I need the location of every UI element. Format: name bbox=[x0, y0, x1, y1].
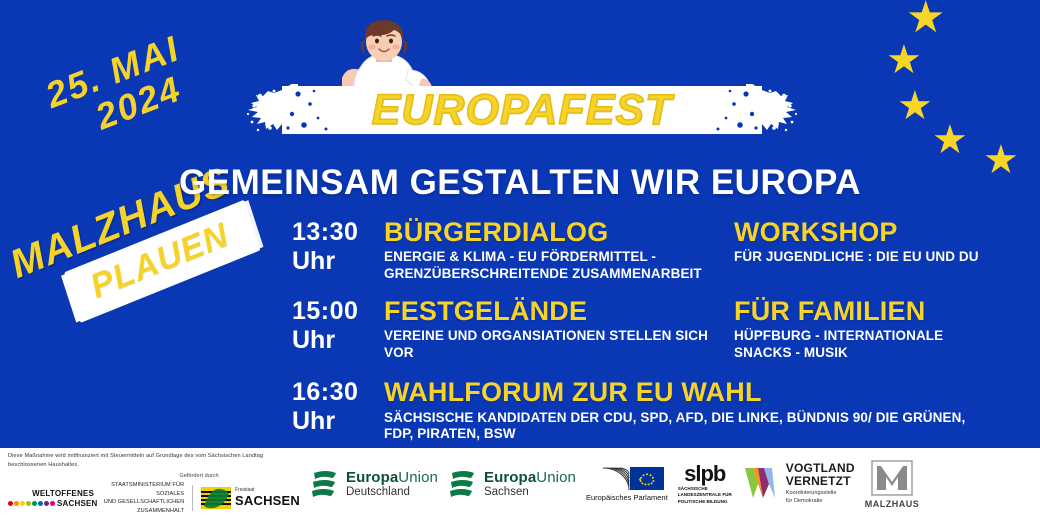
weltoffenes-line1: WELTOFFENES bbox=[8, 489, 94, 498]
schedule-row: 16:30 Uhr WAHLFORUM ZUR EU WAHL SÄCHSISC… bbox=[292, 378, 992, 443]
schedule-time-value: 15:00 bbox=[292, 299, 384, 324]
europaunion-sachsen-logo: EuropaUnion Sachsen bbox=[448, 469, 576, 499]
funding-disclaimer-block: Diese Maßnahme wird mitfinanziert mit St… bbox=[8, 452, 300, 515]
page-headline: GEMEINSAM GESTALTEN WIR EUROPA bbox=[0, 163, 1040, 203]
schedule-time-value: 13:30 bbox=[292, 220, 384, 245]
event-name: BÜRGERDIALOG bbox=[384, 218, 734, 246]
event-title: EUROPAFEST bbox=[246, 84, 798, 136]
freistaat-sachsen-logo: Freistaat SACHSEN bbox=[201, 487, 300, 509]
slpb-logo: slpb SÄCHSISCHE LANDESZENTRALE FÜR POLIT… bbox=[678, 463, 732, 506]
sachsen-coat-of-arms-icon bbox=[201, 487, 231, 509]
weltoffenes-line2: SACHSEN bbox=[57, 499, 98, 508]
event-description: VEREINE UND ORGANSIATIONEN STELLEN SICH … bbox=[384, 328, 734, 362]
parliament-hemicycle-icon bbox=[590, 467, 630, 491]
staatsministerium-logo: STAATSMINISTERIUM FÜR SOZIALES UND GESEL… bbox=[102, 481, 184, 516]
schedule-event-right: FÜR FAMILIEN HÜPFBURG - INTERNATIONALE S… bbox=[734, 297, 992, 362]
event-description: FÜR JUGENDLICHE : DIE EU UND DU bbox=[734, 249, 992, 266]
schedule-row: 15:00 Uhr FESTGELÄNDE VEREINE UND ORGANS… bbox=[292, 297, 992, 362]
event-name: FÜR FAMILIEN bbox=[734, 297, 992, 325]
event-name: WORKSHOP bbox=[734, 218, 992, 246]
eu-flag-icon bbox=[630, 467, 664, 490]
slpb-sub3: POLITISCHE BILDUNG bbox=[678, 499, 732, 506]
eu-star-icon: ★ bbox=[897, 86, 933, 126]
schedule-event-right: WORKSHOP FÜR JUGENDLICHE : DIE EU UND DU bbox=[734, 218, 992, 283]
schedule-list: 13:30 Uhr BÜRGERDIALOG ENERGIE & KLIMA -… bbox=[292, 218, 992, 443]
schedule-time-value: 16:30 bbox=[292, 380, 384, 405]
schedule-time: 13:30 Uhr bbox=[292, 218, 384, 274]
eu-de-light: Union bbox=[398, 469, 438, 486]
schedule-event-wide: WAHLFORUM ZUR EU WAHL SÄCHSISCHE KANDIDA… bbox=[384, 378, 992, 443]
europaunion-mark-icon bbox=[310, 470, 340, 498]
europaunion-mark-icon bbox=[448, 470, 478, 498]
vogtland-line2: VERNETZT bbox=[786, 475, 855, 488]
event-description: ENERGIE & KLIMA - EU FÖRDERMITTEL - GREN… bbox=[384, 249, 734, 283]
divider bbox=[192, 485, 193, 511]
funding-disclaimer-text: Diese Maßnahme wird mitfinanziert mit St… bbox=[8, 452, 300, 469]
slpb-mark-text: slpb bbox=[684, 463, 725, 485]
eu-star-icon: ★ bbox=[886, 40, 922, 80]
malzhaus-logo: MALZHAUS bbox=[865, 460, 920, 509]
eu-de-sub: Deutschland bbox=[346, 486, 438, 499]
smgi-line1: STAATSMINISTERIUM FÜR SOZIALES bbox=[102, 481, 184, 498]
event-name: WAHLFORUM ZUR EU WAHL bbox=[384, 378, 992, 406]
schedule-time-unit: Uhr bbox=[292, 328, 384, 353]
schedule-time: 15:00 Uhr bbox=[292, 297, 384, 353]
vogtland-sub2: für Demokratie bbox=[786, 498, 855, 506]
eu-star-icon: ★ bbox=[932, 120, 968, 160]
eu-star-icon: ★ bbox=[906, 0, 945, 40]
smgi-line3: ZUSAMMENHALT bbox=[102, 507, 184, 516]
title-banner: EUROPAFEST bbox=[246, 84, 798, 136]
eu-sn-sub: Sachsen bbox=[484, 486, 576, 499]
malzhaus-name: MALZHAUS bbox=[865, 499, 920, 509]
eu-sn-bold: Europa bbox=[484, 469, 536, 486]
slpb-sub2: LANDESZENTRALE FÜR bbox=[678, 492, 732, 499]
europaunion-deutschland-logo: EuropaUnion Deutschland bbox=[310, 469, 438, 499]
event-name: FESTGELÄNDE bbox=[384, 297, 734, 325]
schedule-event-left: BÜRGERDIALOG ENERGIE & KLIMA - EU FÖRDER… bbox=[384, 218, 734, 283]
malzhaus-mark-icon bbox=[871, 460, 913, 498]
europaeisches-parlament-logo: Europäisches Parlament bbox=[586, 467, 668, 502]
vogtland-sub1: Koordinierungsstelle bbox=[786, 490, 855, 498]
weltoffenes-sachsen-logo: WELTOFFENES SACHSEN bbox=[8, 489, 94, 508]
eu-de-bold: Europa bbox=[346, 469, 398, 486]
color-dots-icon bbox=[8, 501, 55, 506]
event-date: 25. MAI 2024 bbox=[8, 17, 231, 163]
europafest-poster: ★ ★ ★ ★ ★ 25. MAI 2024 MALZHAUS PLAUEN bbox=[0, 0, 1040, 520]
sponsor-footer: Diese Maßnahme wird mitfinanziert mit St… bbox=[0, 448, 1040, 520]
schedule-event-left: FESTGELÄNDE VEREINE UND ORGANSIATIONEN S… bbox=[384, 297, 734, 362]
schedule-time-unit: Uhr bbox=[292, 249, 384, 274]
vogtland-w-icon bbox=[742, 464, 782, 504]
schedule-time-unit: Uhr bbox=[292, 409, 384, 434]
smgi-line2: UND GESELLSCHAFTLICHEN bbox=[102, 498, 184, 507]
event-description: HÜPFBURG - INTERNATIONALE SNACKS - MUSIK bbox=[734, 328, 992, 362]
funded-by-label: Gefördert durch bbox=[8, 473, 300, 479]
vogtland-vernetzt-logo: VOGTLAND VERNETZT Koordinierungsstelle f… bbox=[742, 462, 855, 506]
parlament-label: Europäisches Parlament bbox=[586, 493, 668, 502]
event-description: SÄCHSISCHE KANDIDATEN DER CDU, SPD, AFD,… bbox=[384, 410, 992, 444]
schedule-time: 16:30 Uhr bbox=[292, 378, 384, 434]
eu-sn-light: Union bbox=[536, 469, 576, 486]
freistaat-big: SACHSEN bbox=[235, 494, 300, 508]
schedule-row: 13:30 Uhr BÜRGERDIALOG ENERGIE & KLIMA -… bbox=[292, 218, 992, 283]
